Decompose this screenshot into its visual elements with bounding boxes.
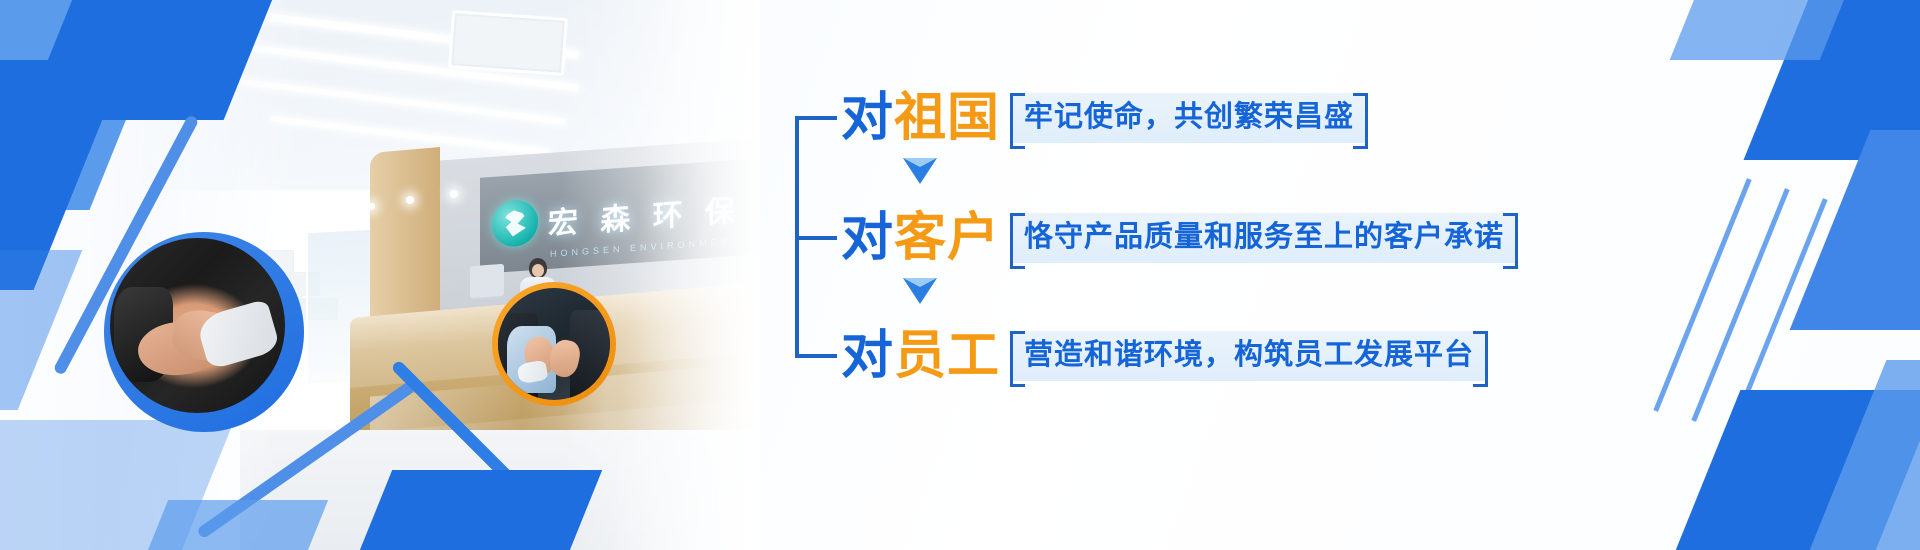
value-prefix: 对 [841, 327, 894, 385]
spot-light [450, 190, 458, 198]
handshake-image [110, 238, 285, 413]
meeting-photo [498, 288, 610, 400]
value-row-employee: 对员工 营造和谐环境，构筑员工发展平台 [795, 330, 1488, 382]
reception-signboard: 宏 森 环 保 HONGSEN ENVIRONMENTAL PROTECTION [480, 158, 760, 274]
decor-thin-line-r2 [1691, 188, 1789, 422]
bracket-tick-3 [795, 354, 837, 358]
bracket-tick-1 [795, 116, 837, 120]
value-prefix: 对 [841, 89, 894, 147]
handshake-photo [110, 238, 285, 413]
company-name-cn: 宏 森 环 保 [548, 185, 742, 243]
company-logo-icon [492, 199, 538, 248]
meeting-image [498, 288, 610, 400]
down-arrow-1 [903, 158, 937, 184]
value-phrase-customer: 恪守产品质量和服务至上的客户承诺 [1010, 213, 1518, 263]
value-phrase-country: 牢记使命，共创繁荣昌盛 [1010, 93, 1368, 143]
value-target: 员工 [894, 327, 1000, 385]
value-phrase-employee: 营造和谐环境，构筑员工发展平台 [1010, 331, 1488, 381]
value-label-country: 对祖国 [841, 92, 1000, 144]
values-list: 对祖国 牢记使命，共创繁荣昌盛 对客户 恪守产品质量和服务至上的客户承诺 对员工… [795, 0, 1555, 550]
company-values-banner: 宏 森 环 保 HONGSEN ENVIRONMENTAL PROTECTION [0, 0, 1920, 550]
ceiling-vent [448, 10, 568, 76]
spot-light [406, 196, 414, 204]
value-label-customer: 对客户 [841, 212, 1000, 264]
value-row-customer: 对客户 恪守产品质量和服务至上的客户承诺 [795, 212, 1518, 264]
down-arrow-2 [903, 278, 937, 304]
bracket-tick-2 [795, 236, 837, 240]
value-prefix: 对 [841, 209, 894, 267]
value-target: 客户 [894, 209, 1000, 267]
decor-thin-line-r1 [1653, 178, 1751, 412]
value-label-employee: 对员工 [841, 330, 1000, 382]
spot-light [368, 203, 375, 210]
shirt-cuff [195, 299, 280, 370]
receptionist-face [532, 264, 544, 277]
value-row-country: 对祖国 牢记使命，共创繁荣昌盛 [795, 92, 1368, 144]
value-target: 祖国 [894, 89, 1000, 147]
